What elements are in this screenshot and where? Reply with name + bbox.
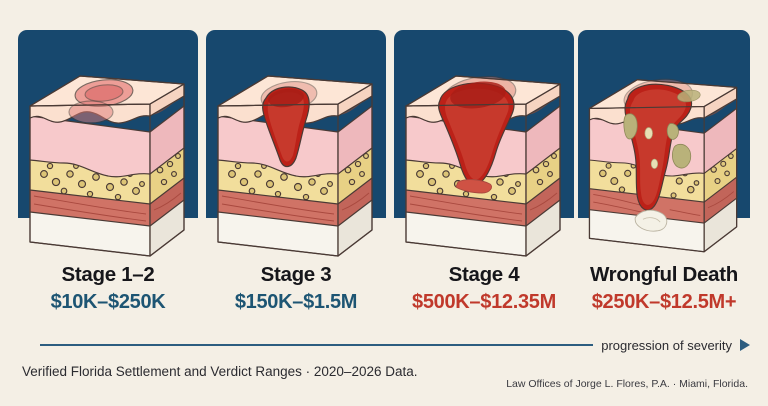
stage-title: Wrongful Death: [578, 262, 750, 288]
progression-label: progression of severity: [601, 338, 732, 353]
stage-settlement-range: $250K–$12.5M+: [578, 288, 750, 316]
triangle-right-icon: [740, 339, 750, 351]
stage-settlement-range: $500K–$12.35M: [394, 288, 574, 316]
skin-cross-section-wrongful-death: [578, 60, 750, 260]
skin-cross-section-stage-3: [206, 60, 386, 260]
data-source-note: Verified Florida Settlement and Verdict …: [22, 364, 418, 379]
stage-settlement-range: $150K–$1.5M: [206, 288, 386, 316]
skin-cross-section-stage-4: [394, 60, 574, 260]
pressure-injury-settlement-infographic: Stage 1–2 $10K–$250K: [0, 0, 768, 406]
stage-panels: Stage 1–2 $10K–$250K: [0, 0, 768, 262]
stage-title: Stage 3: [206, 262, 386, 288]
stage-title: Stage 1–2: [18, 262, 198, 288]
stage-label-block: Stage 1–2 $10K–$250K: [18, 262, 198, 316]
stage-title: Stage 4: [394, 262, 574, 288]
progression-rule: [40, 344, 593, 346]
stage-label-block: Wrongful Death $250K–$12.5M+: [578, 262, 750, 316]
stage-label-block: Stage 3 $150K–$1.5M: [206, 262, 386, 316]
law-firm-attribution: Law Offices of Jorge L. Flores, P.A. · M…: [506, 378, 748, 390]
stage-label-block: Stage 4 $500K–$12.35M: [394, 262, 574, 316]
stage-settlement-range: $10K–$250K: [18, 288, 198, 316]
progression-of-severity-indicator: progression of severity: [40, 337, 750, 353]
skin-cross-section-stage-1-2: [18, 60, 198, 260]
